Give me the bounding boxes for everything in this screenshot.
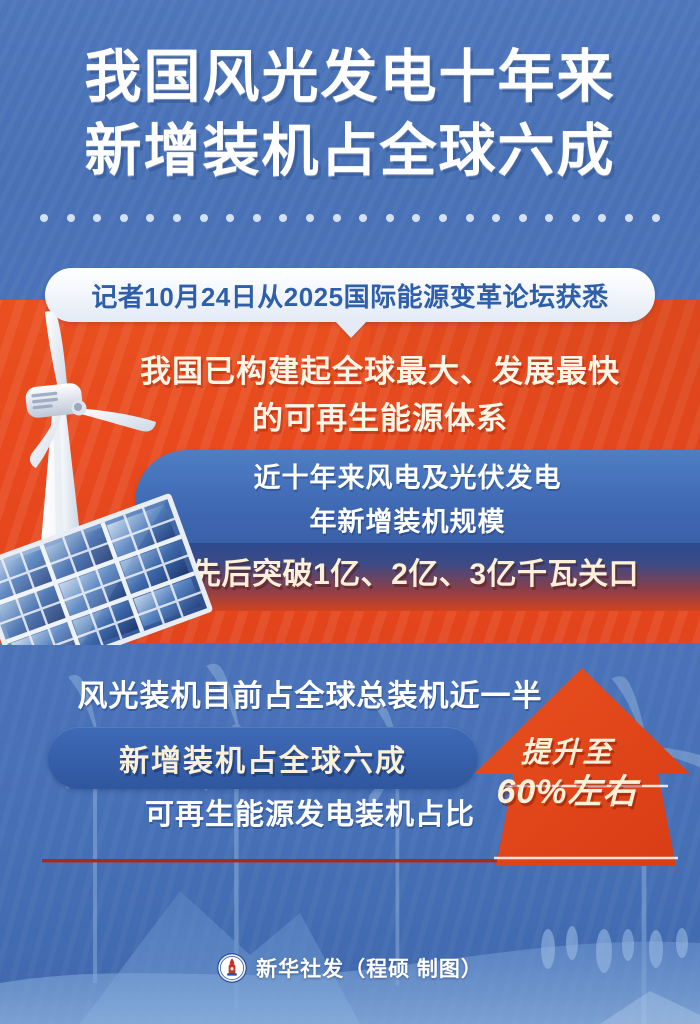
bubble-tail-icon bbox=[334, 320, 368, 338]
credit-line: 新华社发（程硕 制图） bbox=[0, 953, 700, 983]
title-line-1: 我国风光发电十年来 bbox=[0, 40, 700, 114]
solar-panel-icon bbox=[0, 493, 213, 645]
page-title: 我国风光发电十年来 新增装机占全球六成 bbox=[0, 40, 700, 188]
renewable-energy-illustration bbox=[0, 300, 220, 645]
title-line-2: 新增装机占全球六成 bbox=[0, 114, 700, 188]
dotted-divider bbox=[40, 212, 660, 224]
highlight-pill-text: 新增装机占全球六成 bbox=[119, 736, 407, 780]
arrow-label-top: 提升至 bbox=[472, 735, 662, 771]
infographic-poster: 我国风光发电十年来 新增装机占全球六成 记者10月24日从2025国际能源变革论… bbox=[0, 0, 700, 1024]
xinhua-logo bbox=[217, 953, 247, 983]
arrow-label: 提升至 60%左右 bbox=[472, 735, 662, 813]
credit-text: 新华社发（程硕 制图） bbox=[256, 953, 483, 983]
highlight-pill: 新增装机占全球六成 bbox=[48, 727, 478, 789]
arrow-label-value: 60%左右 bbox=[472, 771, 662, 813]
